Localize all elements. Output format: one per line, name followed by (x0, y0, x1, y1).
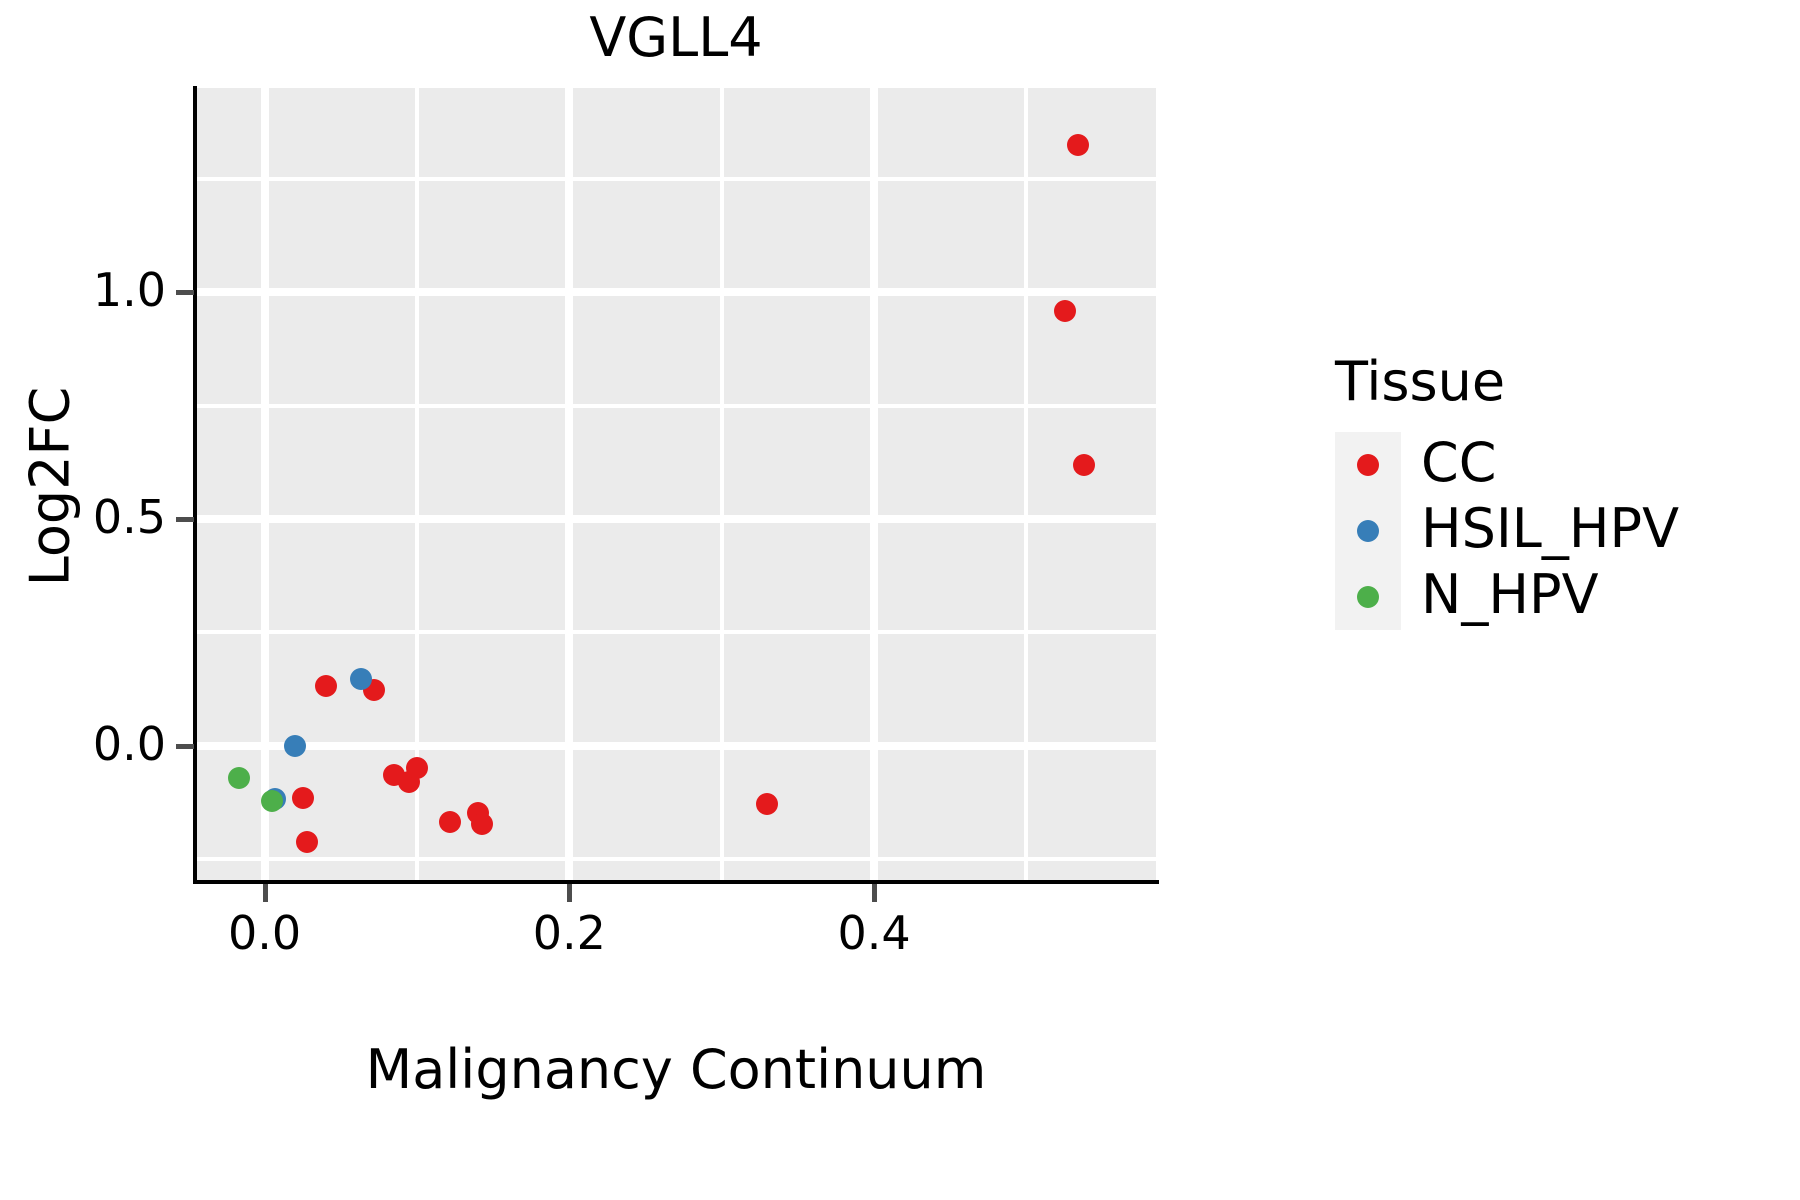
legend-item-label: CC (1421, 430, 1496, 496)
gridline-vertical-major (870, 88, 878, 882)
x-axis-tick-label: 0.2 (489, 906, 649, 960)
legend-item-n-hpv[interactable]: N_HPV (1335, 564, 1755, 630)
x-axis-tick (263, 884, 268, 902)
gridline-horizontal-minor (196, 857, 1156, 861)
scatter-point (1073, 454, 1095, 476)
gridline-horizontal-major (196, 742, 1156, 750)
gridline-vertical-major (261, 88, 269, 882)
gridline-vertical-minor (1024, 88, 1028, 882)
x-axis-tick (567, 884, 572, 902)
legend-swatch-icon (1357, 454, 1379, 476)
y-axis-tick (176, 744, 194, 749)
x-axis-line (193, 880, 1159, 884)
plot-panel (196, 88, 1156, 882)
x-axis-tick-label: 0.0 (185, 906, 345, 960)
x-axis-tick (872, 884, 877, 902)
legend-item-hsil-hpv[interactable]: HSIL_HPV (1335, 498, 1755, 564)
scatter-point (1067, 134, 1089, 156)
scatter-point (228, 767, 250, 789)
chart-root: VGLL4 0.00.51.00.00.20.4 Malignancy Cont… (0, 0, 1800, 1200)
x-axis-tick-label: 0.4 (794, 906, 954, 960)
legend-title: Tissue (1335, 350, 1505, 413)
gridline-vertical-minor (720, 88, 724, 882)
y-axis-title: Log2FC (19, 277, 82, 697)
y-axis-line (193, 86, 197, 884)
gridline-horizontal-minor (196, 177, 1156, 181)
legend-item-label: N_HPV (1421, 562, 1599, 628)
gridline-horizontal-major (196, 515, 1156, 523)
y-axis-tick-label: 0.0 (40, 717, 166, 771)
legend-item-cc[interactable]: CC (1335, 432, 1755, 498)
scatter-point (315, 675, 337, 697)
scatter-point (284, 735, 306, 757)
gridline-horizontal-minor (196, 404, 1156, 408)
x-axis-title: Malignancy Continuum (196, 1038, 1156, 1101)
y-axis-tick (176, 290, 194, 295)
legend-swatch-icon (1357, 586, 1379, 608)
scatter-point (406, 757, 428, 779)
gridline-horizontal-major (196, 288, 1156, 296)
scatter-point (1054, 300, 1076, 322)
page-title: VGLL4 (196, 8, 1156, 67)
gridline-horizontal-minor (196, 630, 1156, 634)
gridline-vertical-major (565, 88, 573, 882)
y-axis-tick (176, 517, 194, 522)
scatter-point (350, 668, 372, 690)
scatter-point (292, 787, 314, 809)
legend-swatch-icon (1357, 520, 1379, 542)
legend-item-label: HSIL_HPV (1421, 496, 1679, 562)
